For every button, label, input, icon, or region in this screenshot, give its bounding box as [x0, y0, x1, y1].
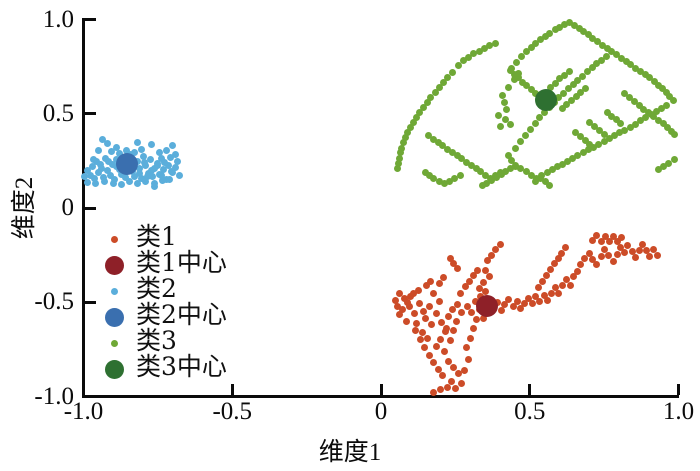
legend-center-marker [105, 256, 124, 275]
scatter-point [483, 180, 490, 187]
scatter-point [486, 273, 493, 280]
scatter-point [472, 298, 479, 305]
scatter-point [148, 167, 155, 174]
scatter-point [584, 68, 591, 75]
scatter-point [552, 80, 559, 87]
scatter-point [89, 163, 96, 170]
scatter-point [648, 111, 655, 118]
scatter-point [593, 232, 600, 239]
scatter-point [637, 117, 644, 124]
scatter-point [468, 309, 475, 316]
scatter-point [517, 138, 524, 145]
scatter-point [585, 146, 592, 153]
scatter-point [555, 290, 562, 297]
scatter-point [559, 161, 566, 168]
scatter-point [653, 108, 660, 115]
scatter-point [492, 246, 499, 253]
scatter-point [154, 162, 161, 169]
scatter-point [567, 282, 574, 289]
scatter-point [410, 290, 417, 297]
scatter-point [542, 33, 549, 40]
scatter-point [512, 145, 519, 152]
scatter-point [617, 120, 624, 127]
scatter-point [528, 86, 535, 93]
scatter-point [611, 132, 618, 139]
scatter-point [551, 99, 558, 106]
scatter-point [547, 84, 554, 91]
scatter-point [655, 166, 662, 173]
scatter-point [172, 151, 179, 158]
scatter-point [511, 71, 518, 78]
scatter-point [138, 146, 145, 153]
scatter-point [427, 94, 434, 101]
scatter-point [113, 163, 120, 170]
x-tick-label: 0.5 [485, 399, 575, 424]
scatter-point [465, 356, 472, 363]
legend-item-label: 类1 [136, 224, 177, 250]
scatter-point [399, 306, 406, 313]
scatter-point [603, 53, 610, 60]
scatter-point [586, 119, 593, 126]
scatter-point [404, 129, 411, 136]
scatter-point [403, 318, 410, 325]
scatter-point [613, 116, 620, 123]
scatter-point [176, 172, 183, 179]
scatter-point [495, 112, 502, 119]
scatter-point [639, 241, 646, 248]
scatter-point [663, 102, 670, 109]
cluster-center-marker [535, 89, 557, 111]
scatter-point [654, 252, 661, 259]
scatter-point [145, 170, 152, 177]
scatter-point [446, 178, 453, 185]
scatter-point [462, 283, 469, 290]
scatter-point [488, 252, 495, 259]
scatter-point [412, 327, 419, 334]
scatter-point [606, 238, 613, 245]
scatter-point [640, 106, 647, 113]
scatter-point [108, 148, 115, 155]
scatter-point [127, 151, 134, 158]
scatter-point [481, 45, 488, 52]
scatter-point [574, 77, 581, 84]
scatter-point [556, 24, 563, 31]
scatter-point [591, 123, 598, 130]
scatter-point [436, 178, 443, 185]
x-tick-label: 0 [336, 399, 426, 424]
scatter-point [497, 123, 504, 130]
scatter-point [632, 121, 639, 128]
scatter-point [419, 329, 426, 336]
scatter-point [166, 176, 173, 183]
scatter-point [413, 320, 420, 327]
scatter-point [582, 85, 589, 92]
scatter-point [508, 65, 515, 72]
scatter-point [579, 73, 586, 80]
scatter-point [577, 261, 584, 268]
scatter-point [549, 166, 556, 173]
scatter-point [505, 152, 512, 159]
scatter-point [451, 175, 458, 182]
scatter-point [154, 160, 161, 167]
scatter-point [497, 241, 504, 248]
scatter-point [535, 284, 542, 291]
scatter-point [450, 260, 457, 267]
scatter-point [455, 62, 462, 69]
scatter-point [645, 109, 652, 116]
scatter-point [163, 147, 170, 154]
scatter-point [160, 166, 167, 173]
scatter-point [589, 237, 596, 244]
y-axis-spine [82, 18, 85, 398]
scatter-point [430, 290, 437, 297]
scatter-point [113, 156, 120, 163]
scatter-point [453, 318, 460, 325]
legend-item-label: 类3 [136, 328, 177, 354]
scatter-point [521, 300, 528, 307]
scatter-point [147, 156, 154, 163]
scatter-point [396, 290, 403, 297]
scatter-point [450, 364, 457, 371]
scatter-point [410, 119, 417, 126]
scatter-point [494, 299, 501, 306]
scatter-point [97, 161, 104, 168]
scatter-point [476, 285, 483, 292]
scatter-point [422, 315, 429, 322]
y-tick-label: -0.5 [2, 289, 74, 314]
scatter-point [138, 175, 145, 182]
scatter-point [159, 177, 166, 184]
scatter-point [632, 65, 639, 72]
scatter-point [574, 152, 581, 159]
scatter-point [437, 386, 444, 393]
scatter-point [169, 142, 176, 149]
scatter-point [473, 165, 480, 172]
scatter-point [165, 162, 172, 169]
scatter-point [401, 295, 408, 302]
scatter-point [437, 336, 444, 343]
scatter-point [548, 290, 555, 297]
scatter-point [125, 163, 132, 170]
scatter-point [532, 90, 539, 97]
legend-center-marker [105, 360, 124, 379]
y-tick-label: -1.0 [2, 384, 74, 409]
scatter-point [140, 153, 147, 160]
scatter-point [104, 167, 111, 174]
scatter-point [580, 149, 587, 156]
scatter-point [87, 172, 94, 179]
scatter-point [84, 167, 91, 174]
scatter-point [663, 89, 670, 96]
scatter-point [629, 248, 636, 255]
scatter-point [396, 311, 403, 318]
scatter-point [158, 155, 165, 162]
scatter-point [546, 182, 553, 189]
scatter-point [608, 113, 615, 120]
scatter-point [107, 172, 114, 179]
scatter-point [442, 328, 449, 335]
scatter-point [585, 31, 592, 38]
scatter-point [482, 267, 489, 274]
scatter-point [406, 303, 413, 310]
scatter-point [457, 290, 464, 297]
scatter-point [618, 55, 625, 62]
scatter-point [523, 82, 530, 89]
scatter-point [598, 253, 605, 260]
scatter-point [470, 50, 477, 57]
scatter-point [440, 79, 447, 86]
scatter-point [141, 159, 148, 166]
scatter-point [400, 139, 407, 146]
scatter-point [447, 255, 454, 262]
scatter-point [554, 163, 561, 170]
scatter-point [671, 131, 678, 138]
scatter-point [421, 344, 428, 351]
scatter-point [660, 163, 667, 170]
scatter-point [404, 299, 411, 306]
scatter-point [131, 149, 138, 156]
scatter-point [448, 378, 455, 385]
scatter-point [120, 159, 127, 166]
scatter-point [505, 296, 512, 303]
scatter-point [91, 175, 98, 182]
scatter-point [528, 172, 535, 179]
scatter-point [470, 325, 477, 332]
scatter-point [110, 180, 117, 187]
scatter-point [416, 300, 423, 307]
scatter-point [555, 255, 562, 262]
scatter-point [561, 21, 568, 28]
scatter-point [547, 266, 554, 273]
scatter-point [142, 162, 149, 169]
scatter-point [569, 155, 576, 162]
scatter-point [95, 169, 102, 176]
scatter-point [136, 170, 143, 177]
scatter-point [646, 74, 653, 81]
scatter-point [573, 93, 580, 100]
scatter-point [613, 51, 620, 58]
scatter-point [512, 162, 519, 169]
scatter-point [466, 278, 473, 285]
scatter-point [538, 172, 545, 179]
scatter-point [480, 279, 487, 286]
scatter-point [445, 313, 452, 320]
scatter-point [503, 106, 510, 113]
scatter-point [497, 169, 504, 176]
scatter-point [458, 155, 465, 162]
scatter-point [151, 183, 158, 190]
scatter-point [525, 295, 532, 302]
scatter-point [618, 234, 625, 241]
scatter-point [463, 344, 470, 351]
scatter-point [605, 252, 612, 259]
scatter-point [651, 78, 658, 85]
x-tick-label: -0.5 [187, 399, 277, 424]
scatter-point [577, 133, 584, 140]
scatter-point [433, 310, 440, 317]
scatter-point [444, 384, 451, 391]
scatter-point [655, 82, 662, 89]
scatter-point [407, 293, 414, 300]
scatter-point [614, 251, 621, 258]
scatter-point [121, 167, 128, 174]
scatter-point [174, 158, 181, 165]
scatter-point [441, 180, 448, 187]
scatter-point [395, 160, 402, 167]
scatter-point [126, 178, 133, 185]
scatter-point [576, 25, 583, 32]
scatter-point [430, 136, 437, 143]
y-tick-label: 0.5 [2, 101, 74, 126]
scatter-point [637, 68, 644, 75]
scatter-point [606, 135, 613, 142]
scatter-point [430, 175, 437, 182]
scatter-point [601, 131, 608, 138]
scatter-point [435, 366, 442, 373]
scatter-point [482, 172, 489, 179]
scatter-point [163, 176, 170, 183]
scatter-point [113, 144, 120, 151]
scatter-point [440, 274, 447, 281]
scatter-point [454, 301, 461, 308]
scatter-point [595, 141, 602, 148]
scatter-point [413, 114, 420, 121]
scatter-point [105, 158, 112, 165]
scatter-point [650, 113, 657, 120]
scatter-point [420, 104, 427, 111]
scatter-point [668, 128, 675, 135]
scatter-point [596, 127, 603, 134]
scatter-point [642, 71, 649, 78]
scatter-point [476, 306, 483, 313]
scatter-point [608, 48, 615, 55]
scatter-point [632, 254, 639, 261]
x-tick-label: -1.0 [39, 399, 129, 424]
scatter-point [593, 60, 600, 67]
scatter-point [468, 162, 475, 169]
scatter-point [555, 94, 562, 101]
scatter-point [426, 352, 433, 359]
scatter-point [454, 265, 461, 272]
scatter-point [101, 178, 108, 185]
scatter-point [482, 288, 489, 295]
scatter-point [659, 85, 666, 92]
scatter-point [423, 282, 430, 289]
scatter-point [476, 48, 483, 55]
x-tick-mark [677, 384, 680, 395]
scatter-point [621, 127, 628, 134]
scatter-point [546, 30, 553, 37]
scatter-point [552, 26, 559, 33]
x-axis-spine [82, 395, 679, 398]
scatter-point [426, 303, 433, 310]
scatter-point [532, 293, 539, 300]
scatter-point [568, 97, 575, 104]
scatter-point [458, 309, 465, 316]
scatter-point [123, 147, 130, 154]
scatter-point [621, 249, 628, 256]
scatter-point [415, 287, 422, 294]
scatter-point [128, 162, 135, 169]
scatter-point [100, 174, 107, 181]
scatter-point [566, 68, 573, 75]
scatter-point [511, 76, 518, 83]
scatter-point [581, 255, 588, 262]
scatter-point [104, 140, 111, 147]
scatter-point [116, 150, 123, 157]
scatter-point [574, 268, 581, 275]
scatter-point [636, 247, 643, 254]
scatter-point [441, 348, 448, 355]
scatter-point [616, 129, 623, 136]
scatter-point [158, 172, 165, 179]
scatter-point [416, 109, 423, 116]
scatter-point [539, 278, 546, 285]
scatter-point [627, 124, 634, 131]
scatter-point [449, 69, 456, 76]
scatter-point [486, 296, 493, 303]
scatter-point [430, 359, 437, 366]
scatter-point [589, 256, 596, 263]
scatter-point [544, 297, 551, 304]
scatter-point [670, 97, 677, 104]
scatter-point [552, 284, 559, 291]
scatter-point [492, 172, 499, 179]
scatter-point [532, 178, 539, 185]
scatter-point [156, 149, 163, 156]
scatter-point [169, 169, 176, 176]
legend-item-label: 类3中心 [136, 354, 227, 380]
scatter-point [422, 169, 429, 176]
scatter-point [577, 89, 584, 96]
scatter-point [477, 168, 484, 175]
scatter-point [604, 45, 611, 52]
scatter-point [665, 160, 672, 167]
scatter-point [590, 144, 597, 151]
scatter-point [428, 321, 435, 328]
scatter-point [586, 141, 593, 148]
scatter-point [484, 257, 491, 264]
scatter-point [464, 303, 471, 310]
scatter-point [161, 159, 168, 166]
scatter-point [134, 139, 141, 146]
scatter-point [444, 74, 451, 81]
scatter-point [599, 42, 606, 49]
scatter-point [407, 124, 414, 131]
scatter-point [111, 176, 118, 183]
cluster-center-marker [476, 295, 498, 317]
scatter-point [424, 335, 431, 342]
scatter-point [149, 173, 156, 180]
scatter-point [427, 278, 434, 285]
scatter-point [523, 168, 530, 175]
scatter-point [598, 238, 605, 245]
scatter-point [435, 139, 442, 146]
scatter-point [532, 120, 539, 127]
scatter-point [493, 174, 500, 181]
scatter-point [98, 165, 105, 172]
legend-center-marker [105, 308, 124, 327]
scatter-point [505, 84, 512, 91]
scatter-point [604, 109, 611, 116]
scatter-point [528, 44, 535, 51]
scatter-point [512, 163, 519, 170]
y-tick-label: 1.0 [2, 7, 74, 32]
legend-item-label: 类1中心 [136, 250, 227, 276]
legend-point-marker [111, 288, 118, 295]
scatter-point [142, 178, 149, 185]
scatter-point [537, 36, 544, 43]
